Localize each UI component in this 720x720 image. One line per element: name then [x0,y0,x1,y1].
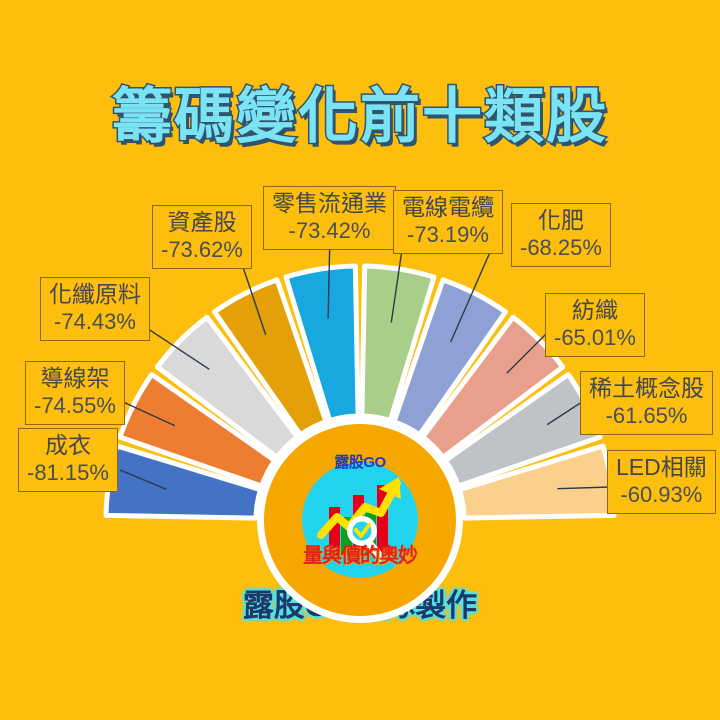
callout-name: 稀土概念股 [589,376,704,402]
callout-value: -68.25% [520,236,602,261]
callout-name: 資產股 [161,210,243,236]
callout-hua-xian-yuan-liao[interactable]: 化纖原料 -74.43% [40,277,150,341]
infographic-canvas: 籌碼變化前十類股 露股GO 量與價的奧妙 成衣 -81.15% 導線架 [0,0,720,720]
callout-name: 導線架 [34,366,116,392]
callout-hua-fei[interactable]: 化肥 -68.25% [511,203,611,267]
callout-name: 成衣 [27,433,109,459]
logo-text-group: 露股GO 量與價的奧妙 [305,443,415,553]
callout-dian-xian-dian-lan[interactable]: 電線電纜 -73.19% [393,190,503,254]
callout-name: 電線電纜 [402,195,494,221]
callout-dao-xian-jia[interactable]: 導線架 -74.55% [25,361,125,425]
callout-xi-tu-gai-nian-gu[interactable]: 稀土概念股 -61.65% [580,371,713,435]
callout-name: LED相關 [616,455,707,481]
callout-zi-chan-gu[interactable]: 資產股 -73.62% [152,205,252,269]
callout-value: -74.55% [34,394,116,419]
callout-value: -65.01% [554,326,636,351]
callout-name: 化纖原料 [49,282,141,308]
callout-value: -73.19% [402,223,494,248]
callout-value: -73.62% [161,238,243,263]
callout-name: 化肥 [520,208,602,234]
callout-value: -74.43% [49,310,141,335]
callout-value: -61.65% [589,404,704,429]
callout-led-xiang-guan[interactable]: LED相關 -60.93% [607,450,716,514]
callout-ling-shou-liu-tong-ye[interactable]: 零售流通業 -73.42% [263,186,396,250]
callout-name: 紡織 [554,298,636,324]
callout-value: -81.15% [27,461,109,486]
half-donut-chart [0,0,720,720]
callout-name: 零售流通業 [272,191,387,217]
callout-cheng-yi[interactable]: 成衣 -81.15% [18,428,118,492]
callout-value: -73.42% [272,219,387,244]
callout-fang-zhi[interactable]: 紡織 -65.01% [545,293,645,357]
logo-brand-bottom: 量與價的奧妙 [289,539,431,568]
callout-value: -60.93% [616,483,707,508]
logo-brand-top: 露股GO [305,451,415,472]
